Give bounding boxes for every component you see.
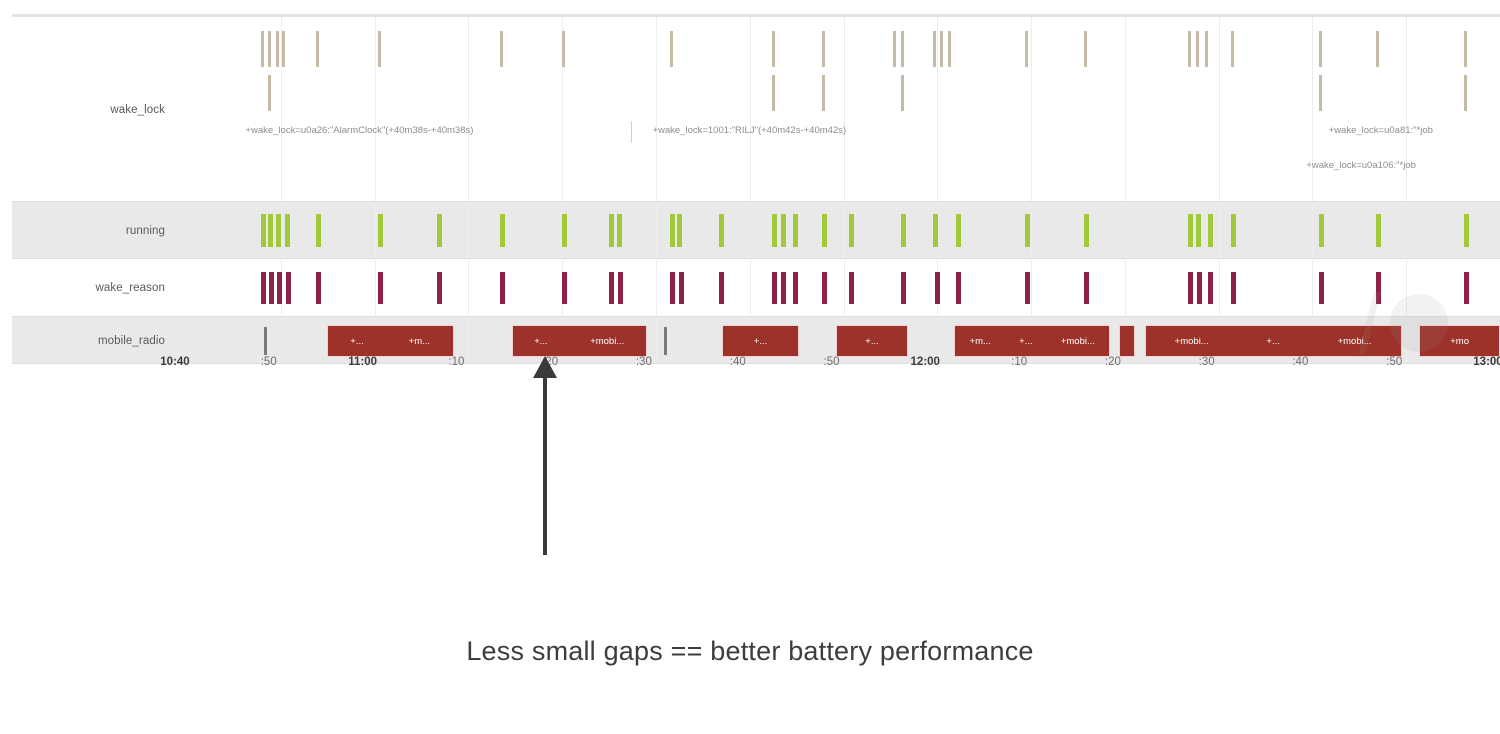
- caption-text: Less small gaps == better battery perfor…: [0, 636, 1500, 667]
- wake-reason-tick[interactable]: [1208, 272, 1213, 304]
- gridline: [937, 17, 938, 202]
- gridline: [468, 259, 469, 317]
- gridline: [1125, 202, 1126, 259]
- mobile-radio-block-label: +mo: [1448, 336, 1471, 347]
- axis-tick-label: :10: [1011, 356, 1027, 368]
- running-tick[interactable]: [849, 214, 854, 247]
- running-tick[interactable]: [1208, 214, 1213, 247]
- wake-reason-tick[interactable]: [261, 272, 266, 304]
- gridline: [656, 17, 657, 202]
- running-tick[interactable]: [956, 214, 961, 247]
- wake-lock-tick[interactable]: [948, 31, 951, 67]
- wake-lock-tick[interactable]: [276, 31, 279, 67]
- gridline: [656, 259, 657, 317]
- wake-lock-tick[interactable]: [772, 31, 775, 67]
- running-tick[interactable]: [617, 214, 622, 247]
- gridline: [750, 202, 751, 259]
- mobile-radio-block[interactable]: +mobi...+...+mobi...: [1145, 325, 1402, 357]
- running-tick[interactable]: [822, 214, 827, 247]
- running-tick[interactable]: [1376, 214, 1381, 247]
- gridline: [750, 17, 751, 202]
- gridline: [1406, 259, 1407, 317]
- running-tick[interactable]: [1464, 214, 1469, 247]
- gridline: [1031, 202, 1032, 259]
- wake-lock-tick[interactable]: [1464, 31, 1467, 67]
- wake-reason-tick[interactable]: [378, 272, 383, 304]
- wake-lock-tick[interactable]: [901, 75, 904, 111]
- mobile-radio-block-label: +...: [863, 336, 880, 347]
- gridline: [375, 202, 376, 259]
- mobile-radio-block[interactable]: +mo: [1419, 325, 1500, 357]
- row-label-running: running: [12, 202, 187, 259]
- mobile-radio-tick[interactable]: [264, 327, 267, 355]
- wake-reason-tick[interactable]: [286, 272, 291, 304]
- gridline: [1031, 259, 1032, 317]
- wake-lock-annotation: +wake_lock=u0a81:"*job: [1329, 125, 1433, 136]
- wake-reason-tick[interactable]: [1376, 272, 1381, 304]
- running-tick[interactable]: [261, 214, 266, 247]
- time-axis: 10:40:5011:00:10:20:30:40:5012:00:10:20:…: [175, 356, 1500, 380]
- mobile-radio-block[interactable]: +...: [722, 325, 799, 357]
- gridline: [1031, 17, 1032, 202]
- wake-reason-tick[interactable]: [1084, 272, 1089, 304]
- running-tick[interactable]: [437, 214, 442, 247]
- running-tick[interactable]: [677, 214, 682, 247]
- mobile-radio-tick[interactable]: [664, 327, 667, 355]
- wake-lock-tick[interactable]: [261, 31, 264, 67]
- wake-lock-tick[interactable]: [1319, 31, 1322, 67]
- running-tick[interactable]: [378, 214, 383, 247]
- wake-lock-tick[interactable]: [268, 31, 271, 67]
- running-tick[interactable]: [933, 214, 938, 247]
- gridline: [656, 202, 657, 259]
- wake-reason-tick[interactable]: [618, 272, 623, 304]
- gridline: [1312, 17, 1313, 202]
- battery-historian-timeline-screen: wake_lock +wake_lock=u0a26:"AlarmClock"(…: [0, 0, 1500, 734]
- wake-lock-tick[interactable]: [822, 31, 825, 67]
- wake-lock-tick[interactable]: [1231, 31, 1234, 67]
- wake-reason-tick[interactable]: [670, 272, 675, 304]
- timeline-row-wake-lock[interactable]: wake_lock +wake_lock=u0a26:"AlarmClock"(…: [12, 17, 1500, 202]
- gridline: [468, 17, 469, 202]
- wake-reason-tick[interactable]: [679, 272, 684, 304]
- wake-lock-tick[interactable]: [562, 31, 565, 67]
- wake-reason-tick[interactable]: [1464, 272, 1469, 304]
- wake-reason-tick[interactable]: [1231, 272, 1236, 304]
- gridline: [1312, 202, 1313, 259]
- mobile-radio-block-label: +m...: [968, 336, 993, 347]
- annotation-separator: [631, 121, 632, 143]
- wake-lock-tick[interactable]: [893, 31, 896, 67]
- axis-tick-label: :50: [1386, 356, 1402, 368]
- axis-tick-label: :20: [1105, 356, 1121, 368]
- mobile-radio-block-label: +mobi...: [1173, 336, 1211, 347]
- wake-lock-tick[interactable]: [772, 75, 775, 111]
- annotation-arrow-shaft: [543, 372, 547, 555]
- running-tick[interactable]: [1231, 214, 1236, 247]
- mobile-radio-block-label: +...: [752, 336, 769, 347]
- gridline: [844, 259, 845, 317]
- running-tick[interactable]: [562, 214, 567, 247]
- gridline: [1125, 259, 1126, 317]
- wake-reason-tick[interactable]: [562, 272, 567, 304]
- mobile-radio-block[interactable]: +m...+...+mobi...: [954, 325, 1110, 357]
- gridline: [844, 202, 845, 259]
- row-divider: [12, 201, 1500, 202]
- mobile-radio-block-label: +...: [1017, 336, 1034, 347]
- row-divider: [12, 316, 1500, 317]
- wake-lock-tick[interactable]: [901, 31, 904, 67]
- running-tick[interactable]: [901, 214, 906, 247]
- row-label-wake-reason: wake_reason: [12, 259, 187, 317]
- mobile-radio-block[interactable]: +...+m...: [327, 325, 454, 357]
- gridline: [1125, 17, 1126, 202]
- wake-lock-tick[interactable]: [282, 31, 285, 67]
- axis-tick-label: :50: [261, 356, 277, 368]
- wake-lock-tick[interactable]: [1188, 31, 1191, 67]
- running-tick[interactable]: [500, 214, 505, 247]
- running-tick[interactable]: [276, 214, 281, 247]
- wake-lock-tick[interactable]: [1084, 31, 1087, 67]
- row-track-running[interactable]: [187, 202, 1500, 259]
- running-tick[interactable]: [781, 214, 786, 247]
- wake-lock-tick[interactable]: [933, 31, 936, 67]
- running-tick[interactable]: [268, 214, 273, 247]
- wake-lock-annotation: +wake_lock=u0a26:"AlarmClock"(+40m38s-+4…: [245, 125, 473, 136]
- running-tick[interactable]: [285, 214, 290, 247]
- wake-reason-tick[interactable]: [316, 272, 321, 304]
- running-tick[interactable]: [719, 214, 724, 247]
- wake-lock-tick[interactable]: [1464, 75, 1467, 111]
- running-tick[interactable]: [793, 214, 798, 247]
- wake-reason-tick[interactable]: [1319, 272, 1324, 304]
- wake-reason-tick[interactable]: [1197, 272, 1202, 304]
- wake-lock-tick[interactable]: [378, 31, 381, 67]
- gridline: [750, 259, 751, 317]
- mobile-radio-block-label: +...: [348, 336, 365, 347]
- wake-reason-tick[interactable]: [437, 272, 442, 304]
- running-tick[interactable]: [609, 214, 614, 247]
- wake-reason-tick[interactable]: [901, 272, 906, 304]
- wake-lock-tick[interactable]: [1319, 75, 1322, 111]
- gridline: [1219, 17, 1220, 202]
- axis-tick-label: :10: [448, 356, 464, 368]
- wake-lock-annotation: +wake_lock=u0a106:"*job: [1306, 160, 1416, 171]
- wake-reason-tick[interactable]: [793, 272, 798, 304]
- gridline: [375, 17, 376, 202]
- wake-lock-tick[interactable]: [316, 31, 319, 67]
- running-tick[interactable]: [772, 214, 777, 247]
- running-tick[interactable]: [316, 214, 321, 247]
- gridline: [1406, 202, 1407, 259]
- wake-reason-tick[interactable]: [956, 272, 961, 304]
- wake-reason-tick[interactable]: [1188, 272, 1193, 304]
- axis-tick-label: :50: [824, 356, 840, 368]
- mobile-radio-block-label: +...: [1264, 336, 1281, 347]
- row-track-wake-reason[interactable]: [187, 259, 1500, 317]
- gridline: [1219, 202, 1220, 259]
- mobile-radio-block[interactable]: +...: [836, 325, 908, 357]
- mobile-radio-block-label: +mobi...: [1336, 336, 1374, 347]
- timeline-row-running[interactable]: running: [12, 202, 1500, 259]
- row-divider: [12, 258, 1500, 259]
- gridline: [1406, 17, 1407, 202]
- wake-reason-tick[interactable]: [269, 272, 274, 304]
- axis-tick-label: :30: [1199, 356, 1215, 368]
- row-track-wake-lock[interactable]: +wake_lock=u0a26:"AlarmClock"(+40m38s-+4…: [187, 17, 1500, 202]
- running-tick[interactable]: [1084, 214, 1089, 247]
- axis-tick-label: :40: [730, 356, 746, 368]
- wake-reason-tick[interactable]: [781, 272, 786, 304]
- axis-tick-label: :40: [1292, 356, 1308, 368]
- wake-lock-tick[interactable]: [500, 31, 503, 67]
- wake-reason-tick[interactable]: [822, 272, 827, 304]
- gridline: [375, 259, 376, 317]
- running-tick[interactable]: [1025, 214, 1030, 247]
- wake-reason-tick[interactable]: [849, 272, 854, 304]
- gridline: [1312, 259, 1313, 317]
- gridline: [468, 202, 469, 259]
- wake-lock-tick[interactable]: [1205, 31, 1208, 67]
- wake-reason-tick[interactable]: [719, 272, 724, 304]
- mobile-radio-block-label: +...: [532, 336, 549, 347]
- axis-tick-label: 11:00: [348, 356, 377, 368]
- mobile-radio-block[interactable]: [1119, 325, 1135, 357]
- mobile-radio-block-label: +m...: [407, 336, 432, 347]
- running-tick[interactable]: [670, 214, 675, 247]
- axis-tick-label: 12:00: [911, 356, 940, 368]
- wake-reason-tick[interactable]: [609, 272, 614, 304]
- timeline-row-wake-reason[interactable]: wake_reason: [12, 259, 1500, 317]
- wake-lock-tick[interactable]: [1196, 31, 1199, 67]
- timeline-chart: wake_lock +wake_lock=u0a26:"AlarmClock"(…: [12, 14, 1500, 350]
- wake-reason-tick[interactable]: [1025, 272, 1030, 304]
- running-tick[interactable]: [1196, 214, 1201, 247]
- wake-lock-tick[interactable]: [940, 31, 943, 67]
- gridline: [281, 202, 282, 259]
- wake-reason-tick[interactable]: [935, 272, 940, 304]
- axis-tick-label: :30: [636, 356, 652, 368]
- row-label-wake-lock: wake_lock: [12, 17, 187, 202]
- mobile-radio-block[interactable]: +...+mobi...: [512, 325, 647, 357]
- wake-lock-annotation: +wake_lock=1001:"RILJ"(+40m42s-+40m42s): [652, 125, 846, 136]
- mobile-radio-block-label: +mobi...: [588, 336, 626, 347]
- wake-lock-tick[interactable]: [268, 75, 271, 111]
- gridline: [1219, 259, 1220, 317]
- wake-reason-tick[interactable]: [500, 272, 505, 304]
- mobile-radio-block-label: +mobi...: [1059, 336, 1097, 347]
- running-tick[interactable]: [1319, 214, 1324, 247]
- wake-lock-tick[interactable]: [1025, 31, 1028, 67]
- gridline: [844, 17, 845, 202]
- wake-lock-tick[interactable]: [822, 75, 825, 111]
- wake-lock-tick[interactable]: [1376, 31, 1379, 67]
- wake-lock-tick[interactable]: [670, 31, 673, 67]
- axis-tick-label: 13:00: [1473, 356, 1500, 368]
- wake-reason-tick[interactable]: [772, 272, 777, 304]
- axis-tick-label: 10:40: [160, 356, 189, 368]
- running-tick[interactable]: [1188, 214, 1193, 247]
- wake-reason-tick[interactable]: [277, 272, 282, 304]
